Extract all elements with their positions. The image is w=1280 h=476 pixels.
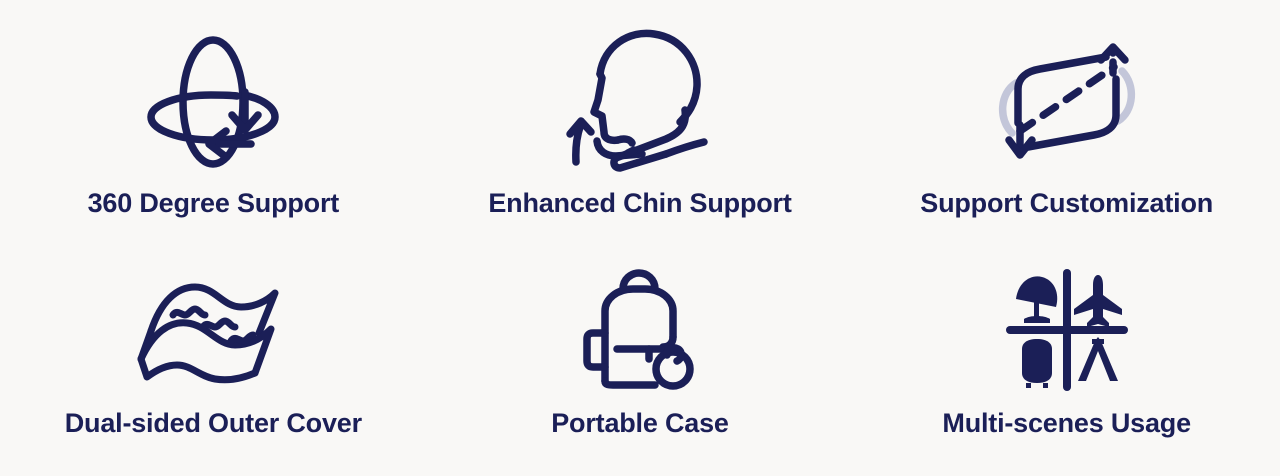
feature-card-dual-sided-outer-cover[interactable]: Dual-sided Outer Cover — [0, 254, 427, 476]
feature-card-enhanced-chin-support[interactable]: Enhanced Chin Support — [427, 0, 854, 254]
feature-label: Portable Case — [551, 408, 728, 439]
feature-card-support-customization[interactable]: Support Customization — [853, 0, 1280, 254]
feature-label: Multi-scenes Usage — [942, 408, 1190, 439]
feature-label: 360 Degree Support — [88, 188, 339, 219]
features-grid: 360 Degree Support Enhanced — [0, 0, 1280, 476]
feature-card-portable-case[interactable]: Portable Case — [427, 254, 854, 476]
feature-label: Enhanced Chin Support — [488, 188, 791, 219]
feature-card-360-degree-support[interactable]: 360 Degree Support — [0, 0, 427, 254]
backpack-carabiner-icon — [575, 266, 705, 394]
fabric-layers-icon — [133, 266, 293, 394]
rotation-360-icon — [133, 22, 293, 182]
feature-label: Support Customization — [920, 188, 1213, 219]
head-chin-support-icon — [554, 22, 726, 182]
adjustable-band-icon — [982, 22, 1152, 182]
feature-label: Dual-sided Outer Cover — [65, 408, 362, 439]
feature-card-multi-scenes-usage[interactable]: Multi-scenes Usage — [853, 254, 1280, 476]
scenes-grid-icon — [1006, 266, 1128, 394]
